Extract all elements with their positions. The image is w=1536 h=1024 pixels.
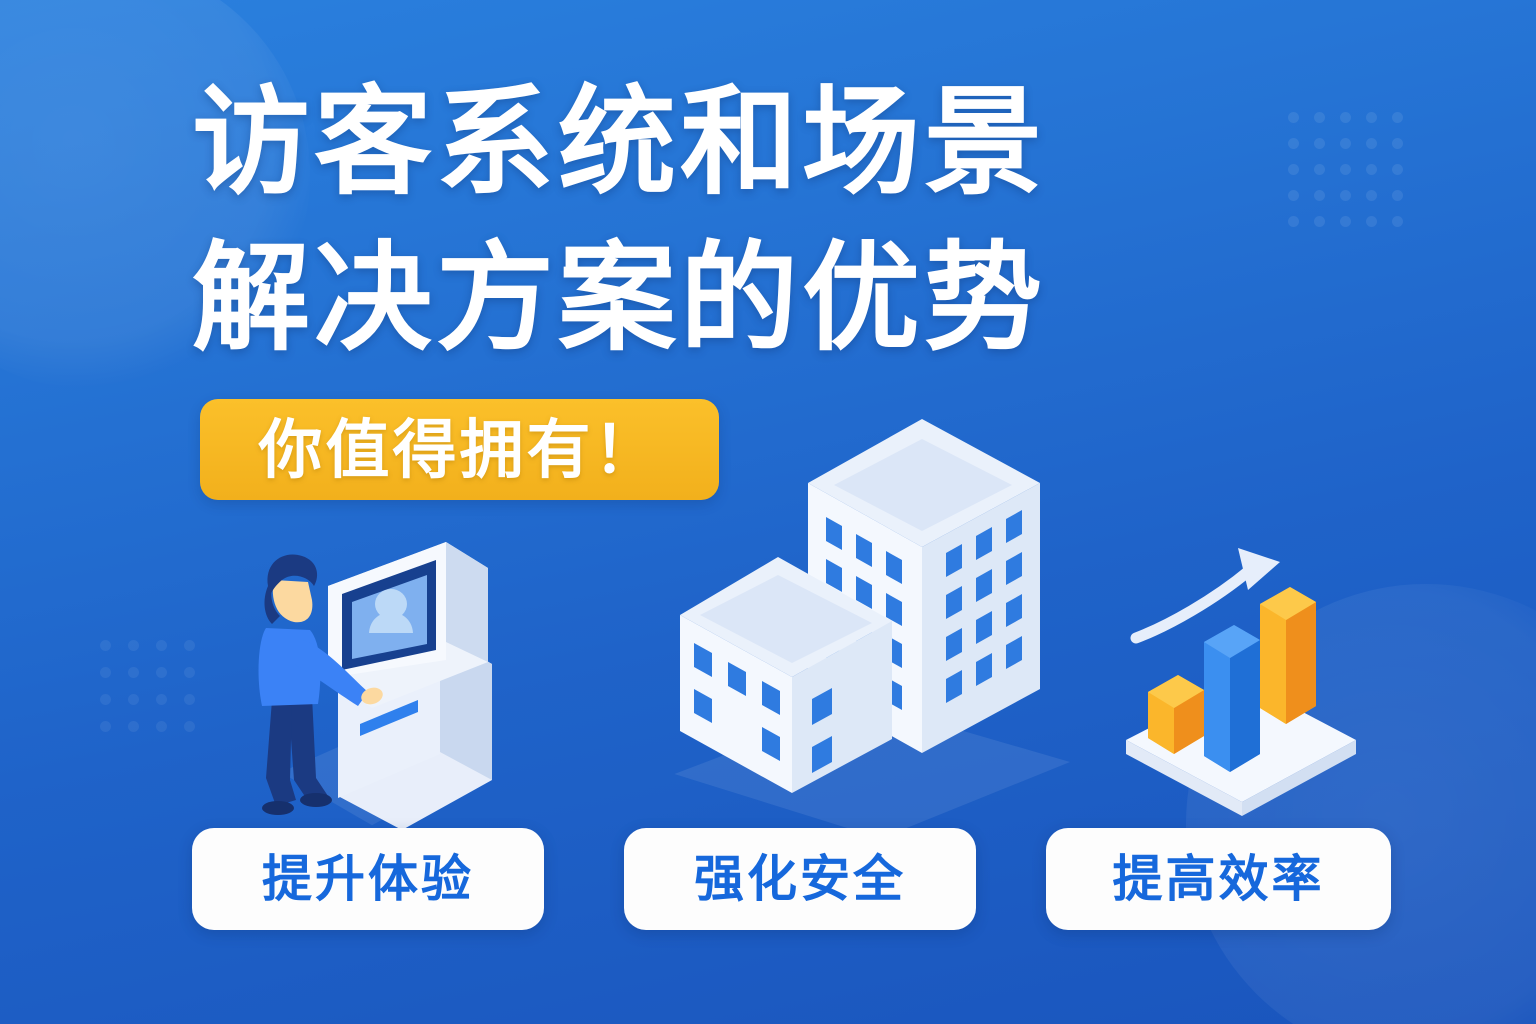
- dot-grid-bottom-left: [100, 640, 212, 748]
- office-buildings-illustration: [660, 405, 1070, 825]
- feature-cards: 提升体验 强化安全 提高效率: [0, 828, 1536, 930]
- feature-card-experience[interactable]: 提升体验: [192, 828, 544, 930]
- feature-card-label: 提升体验: [262, 854, 474, 904]
- poster-canvas: 访客系统和场景 解决方案的优势 你值得拥有！: [0, 0, 1536, 1024]
- upward-arrow-icon: [1136, 548, 1280, 638]
- growth-bar-chart-illustration: [1110, 540, 1380, 820]
- title-line-2: 解决方案的优势: [192, 222, 1192, 378]
- feature-card-label: 提高效率: [1113, 854, 1325, 904]
- buildings-icon: [660, 405, 1070, 825]
- self-service-kiosk-illustration: [250, 528, 510, 828]
- tagline-badge: 你值得拥有！: [200, 399, 719, 500]
- page-title: 访客系统和场景 解决方案的优势: [192, 66, 1192, 378]
- growth-chart-icon: [1110, 540, 1380, 820]
- tagline-badge-label: 你值得拥有！: [259, 418, 661, 482]
- feature-card-efficiency[interactable]: 提高效率: [1046, 828, 1391, 930]
- title-line-1: 访客系统和场景: [192, 66, 1192, 222]
- dot-grid-top-right: [1288, 112, 1418, 242]
- feature-card-security[interactable]: 强化安全: [624, 828, 976, 930]
- kiosk-icon: [250, 528, 510, 828]
- feature-card-label: 强化安全: [694, 854, 906, 904]
